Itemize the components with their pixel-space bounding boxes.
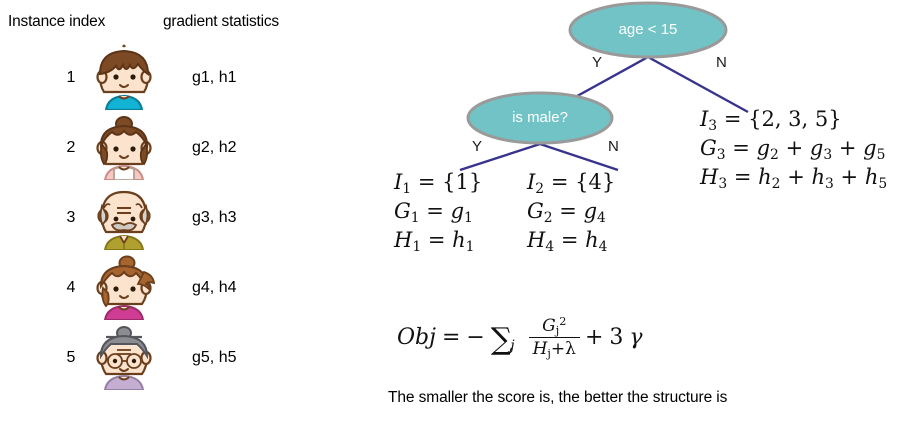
leaf-stats-block-2: I2 = {4} G2 = g4 H4 = h4	[527, 168, 615, 255]
objective-numerator: Gj2	[538, 316, 570, 337]
gradient-statistics-value: g2, h2	[192, 140, 236, 156]
gradient-statistics-value: g5, h5	[192, 350, 236, 366]
leaf3-line-G: G3 = g2 + g3 + g5	[700, 134, 887, 163]
leaf3-line-I: I3 = {2, 3, 5}	[700, 105, 887, 134]
summation-index: j	[510, 338, 514, 354]
leaf-stats-block-3: I3 = {2, 3, 5} G3 = g2 + g3 + g5 H3 = h2…	[700, 105, 887, 192]
objective-denominator: Hj+λ	[529, 337, 580, 359]
old-woman-avatar	[92, 324, 156, 390]
figure-caption: The smaller the score is, the better the…	[388, 389, 727, 407]
instance-index-value: 2	[60, 140, 82, 156]
tree-node-is-male-label[interactable]: is male?	[480, 109, 600, 126]
objective-lhs: Obj	[397, 325, 436, 350]
instance-index-value: 3	[60, 210, 82, 226]
leaf2-line-H: H4 = h4	[527, 226, 615, 255]
leaf-stats-block-1: I1 = {1} G1 = g1 H1 = h1	[394, 168, 482, 255]
table-row: 4 g4, h4	[0, 252, 330, 322]
instance-index-value: 4	[60, 280, 82, 296]
edge-label-root-no: N	[716, 54, 727, 71]
leaf1-line-I: I1 = {1}	[394, 168, 482, 197]
edge-label-is-male-yes: Y	[472, 138, 482, 155]
objective-equals: =	[442, 325, 460, 350]
leaf2-line-G: G2 = g4	[527, 197, 615, 226]
objective-minus: −	[466, 325, 484, 350]
table-row: 3 g3, h3	[0, 182, 330, 252]
girl-avatar	[92, 114, 156, 180]
table-row: 1 g1, h1	[0, 42, 330, 112]
edge-root-to-is-male	[570, 57, 648, 100]
edge-root-to-leaf3	[648, 57, 748, 112]
objective-tail-coefficient: 3	[609, 325, 623, 350]
column-header-gradient-statistics: gradient statistics	[163, 13, 279, 31]
figure-root: Instance index gradient statistics 1	[0, 0, 920, 421]
tree-node-root-label[interactable]: age < 15	[588, 21, 708, 38]
leaf3-line-H: H3 = h2 + h3 + h5	[700, 163, 887, 192]
leaf2-line-I: I2 = {4}	[527, 168, 615, 197]
column-header-instance-index: Instance index	[8, 13, 105, 31]
instance-index-value: 5	[60, 350, 82, 366]
old-man-avatar	[92, 184, 156, 250]
leaf1-line-G: G1 = g1	[394, 197, 482, 226]
objective-tail-symbol: γ	[629, 325, 642, 350]
table-row: 2 g2, h2	[0, 112, 330, 182]
objective-formula: Obj = − ∑ j Gj2 Hj+λ + 3 γ	[397, 316, 649, 359]
ponytail-girl-avatar	[92, 254, 156, 320]
objective-plus: +	[585, 325, 603, 350]
instance-table: Instance index gradient statistics 1	[0, 0, 330, 421]
boy-avatar	[92, 44, 156, 110]
edge-label-root-yes: Y	[592, 54, 602, 71]
table-row: 5	[0, 322, 330, 392]
gradient-statistics-value: g1, h1	[192, 70, 236, 86]
instance-index-value: 1	[60, 70, 82, 86]
edge-is-male-to-leaf2	[540, 144, 618, 170]
leaf1-line-H: H1 = h1	[394, 226, 482, 255]
objective-fraction: Gj2 Hj+λ	[529, 316, 580, 359]
gradient-statistics-value: g4, h4	[192, 280, 236, 296]
edge-label-is-male-no: N	[608, 138, 619, 155]
gradient-statistics-value: g3, h3	[192, 210, 236, 226]
